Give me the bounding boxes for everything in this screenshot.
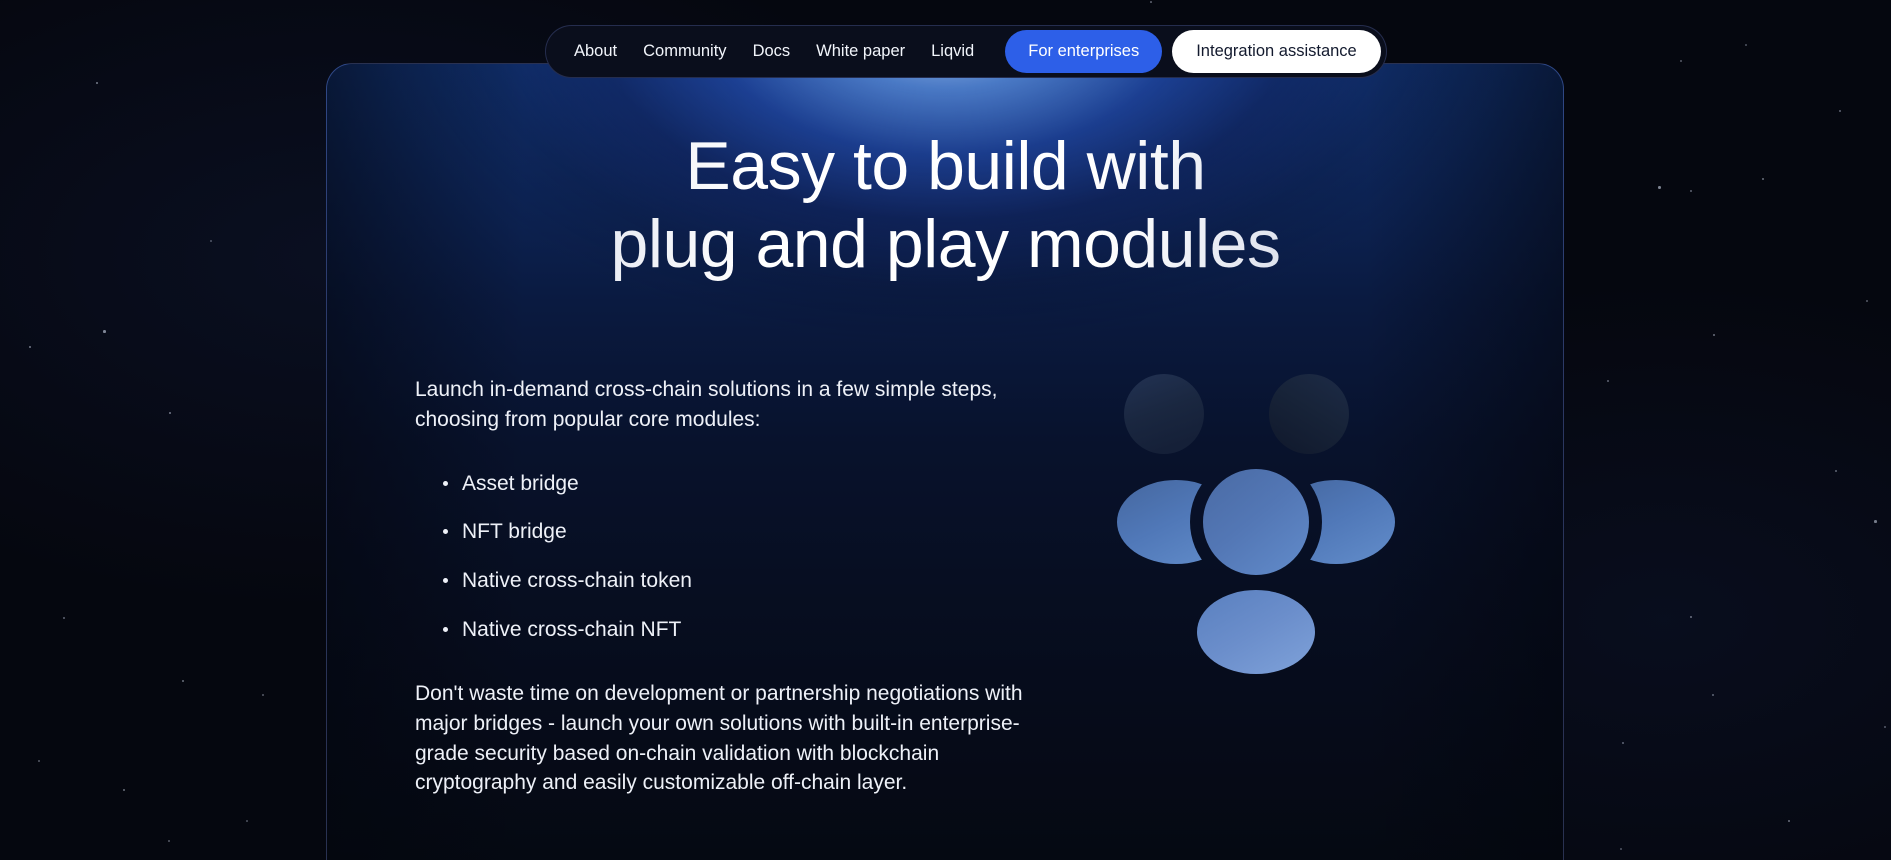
star	[1712, 694, 1714, 696]
star	[262, 694, 264, 696]
intro-paragraph: Launch in-demand cross-chain solutions i…	[415, 375, 1055, 435]
star	[169, 412, 171, 414]
modules-cluster-illustration	[1085, 370, 1425, 700]
star	[1839, 110, 1841, 112]
star	[1788, 820, 1790, 822]
star	[1745, 44, 1747, 46]
star	[1690, 616, 1692, 618]
list-item: Native cross-chain token	[462, 566, 1055, 596]
star	[168, 840, 170, 842]
module-circle-top-left	[1124, 374, 1204, 454]
star	[182, 680, 184, 682]
star	[1835, 470, 1837, 472]
page-title: Easy to build with plug and play modules	[0, 128, 1891, 283]
list-item: Asset bridge	[462, 469, 1055, 499]
outro-paragraph: Don't waste time on development or partn…	[415, 679, 1055, 798]
star	[1874, 520, 1877, 523]
modules-cluster-svg	[1085, 370, 1425, 700]
nav-link-liqvid[interactable]: Liqvid	[918, 43, 987, 60]
module-circle-center	[1203, 469, 1309, 575]
list-item: NFT bridge	[462, 517, 1055, 547]
star	[246, 820, 248, 822]
star	[123, 789, 125, 791]
star	[103, 330, 106, 333]
module-circle-top-right	[1269, 374, 1349, 454]
core-modules-list: Asset bridge NFT bridge Native cross-cha…	[415, 469, 1055, 645]
nav-link-white-paper[interactable]: White paper	[803, 43, 918, 60]
module-ellipse-bottom	[1197, 590, 1315, 674]
star	[1622, 742, 1624, 744]
nav-link-docs[interactable]: Docs	[740, 43, 804, 60]
page-title-line-1: Easy to build with	[0, 128, 1891, 206]
star	[1884, 726, 1886, 728]
star	[1607, 380, 1609, 382]
page-title-line-2: plug and play modules	[0, 206, 1891, 284]
hero-body-copy: Launch in-demand cross-chain solutions i…	[415, 375, 1055, 798]
star	[1713, 334, 1715, 336]
star	[1150, 1, 1152, 3]
star	[29, 346, 31, 348]
star	[1866, 300, 1868, 302]
list-item: Native cross-chain NFT	[462, 615, 1055, 645]
star	[1620, 848, 1622, 850]
nav-link-about[interactable]: About	[574, 43, 630, 60]
integration-assistance-button[interactable]: Integration assistance	[1172, 30, 1381, 73]
nav-link-community[interactable]: Community	[630, 43, 739, 60]
for-enterprises-button[interactable]: For enterprises	[1005, 30, 1162, 73]
star	[38, 760, 40, 762]
star	[1680, 60, 1682, 62]
main-navigation: About Community Docs White paper Liqvid …	[545, 25, 1387, 78]
star	[96, 82, 98, 84]
star	[63, 617, 65, 619]
